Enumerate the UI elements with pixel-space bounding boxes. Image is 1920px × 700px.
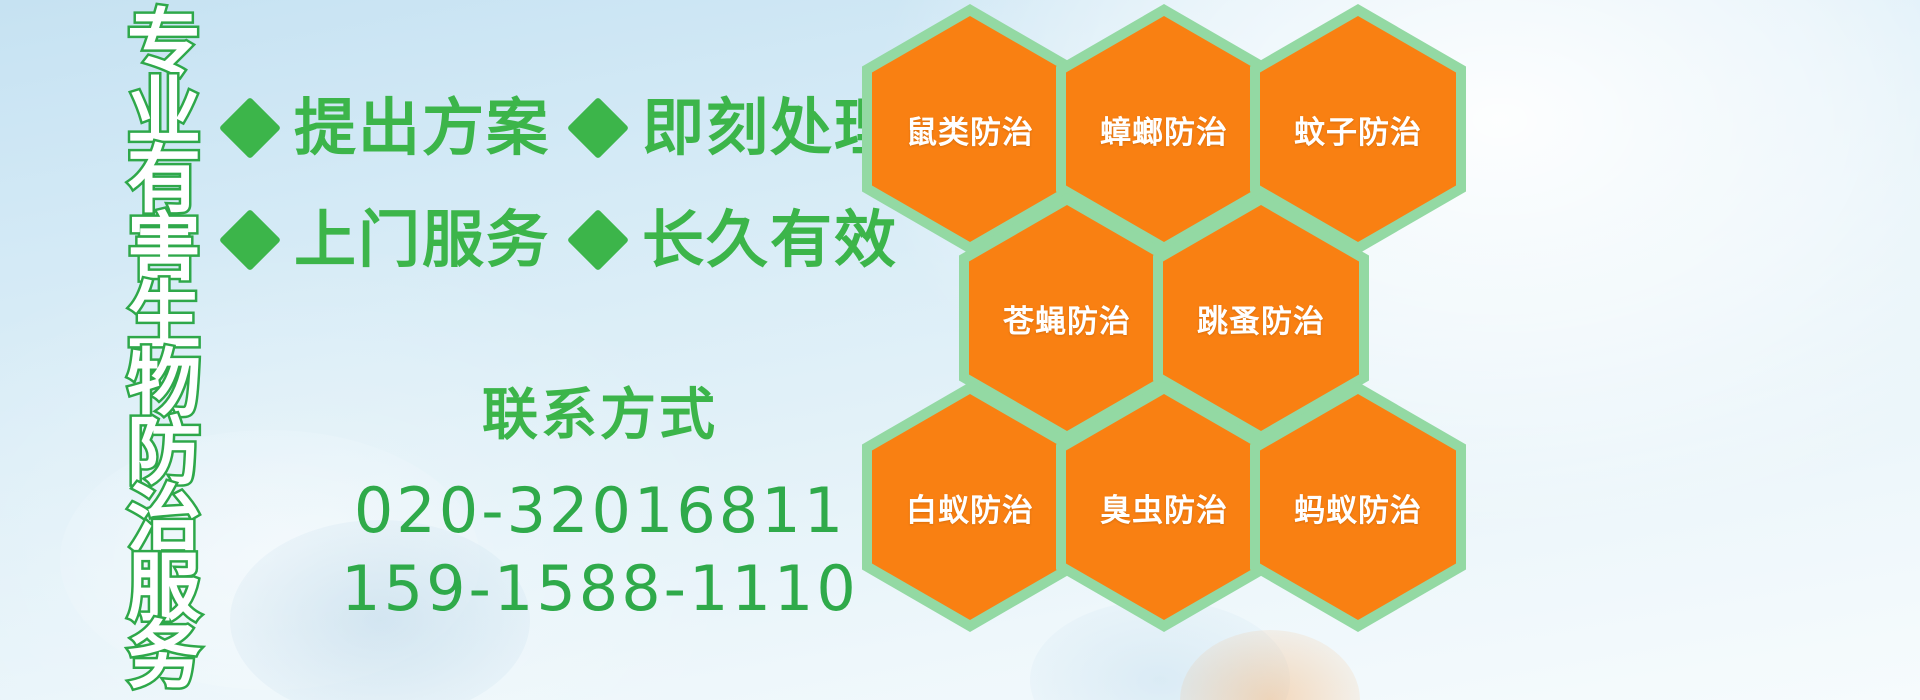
vertical-headline-char: 业 (127, 78, 201, 146)
service-hex-fill: 苍蝇防治 (969, 205, 1165, 431)
feature-label: 提出方案 (294, 97, 550, 159)
service-hex-label: 蟑螂防治 (1100, 107, 1228, 152)
feature-row: 提出方案 即刻处理 (228, 72, 888, 184)
feature-label: 上门服务 (294, 209, 550, 271)
service-hex-fill: 白蚁防治 (872, 394, 1068, 620)
service-hex-fill: 蚂蚁防治 (1260, 394, 1456, 620)
promo-banner: 专 业 有 害 生 物 防 治 服 务 提出方案 即刻处理 上门服务 长久有效 … (0, 0, 1920, 700)
contact-phone-mobile[interactable]: 159-1588-1110 (300, 550, 900, 628)
service-hex-label: 鼠类防治 (906, 107, 1034, 152)
vertical-headline-char: 治 (127, 486, 201, 554)
service-honeycomb: 鼠类防治 蟑螂防治 蚊子防治 苍蝇防治 跳蚤防治 白蚁防 (862, 0, 1920, 700)
vertical-headline-char: 有 (127, 146, 201, 214)
diamond-bullet-icon (219, 97, 281, 159)
vertical-headline-char: 服 (127, 554, 201, 622)
feature-list: 提出方案 即刻处理 上门服务 长久有效 (228, 72, 888, 296)
diamond-bullet-icon (567, 209, 629, 271)
service-hex-label: 苍蝇防治 (1003, 296, 1131, 341)
service-hex-label: 白蚁防治 (906, 485, 1034, 530)
feature-label: 长久有效 (642, 209, 898, 271)
service-hex-fill: 鼠类防治 (872, 16, 1068, 242)
service-hex-fill: 蚊子防治 (1260, 16, 1456, 242)
service-hex-label: 蚂蚁防治 (1294, 485, 1422, 530)
vertical-headline-char: 专 (127, 10, 201, 78)
vertical-headline-char: 务 (127, 622, 201, 690)
service-hex-fill: 跳蚤防治 (1163, 205, 1359, 431)
service-hex-fill: 臭虫防治 (1066, 394, 1262, 620)
contact-block: 联系方式 020-32016811 159-1588-1110 (300, 388, 900, 628)
diamond-bullet-icon (567, 97, 629, 159)
contact-title: 联系方式 (300, 388, 900, 444)
feature-label: 即刻处理 (642, 97, 898, 159)
vertical-headline-char: 害 (127, 214, 201, 282)
service-hex-label: 跳蚤防治 (1197, 296, 1325, 341)
feature-row: 上门服务 长久有效 (228, 184, 888, 296)
vertical-headline-char: 生 (127, 282, 201, 350)
vertical-headline-char: 防 (127, 418, 201, 486)
vertical-headline-char: 物 (127, 350, 201, 418)
diamond-bullet-icon (219, 209, 281, 271)
vertical-headline: 专 业 有 害 生 物 防 治 服 务 (104, 10, 224, 700)
service-hex-label: 臭虫防治 (1100, 485, 1228, 530)
service-hex-fill: 蟑螂防治 (1066, 16, 1262, 242)
contact-phone-landline[interactable]: 020-32016811 (300, 472, 900, 550)
service-hex-label: 蚊子防治 (1294, 107, 1422, 152)
